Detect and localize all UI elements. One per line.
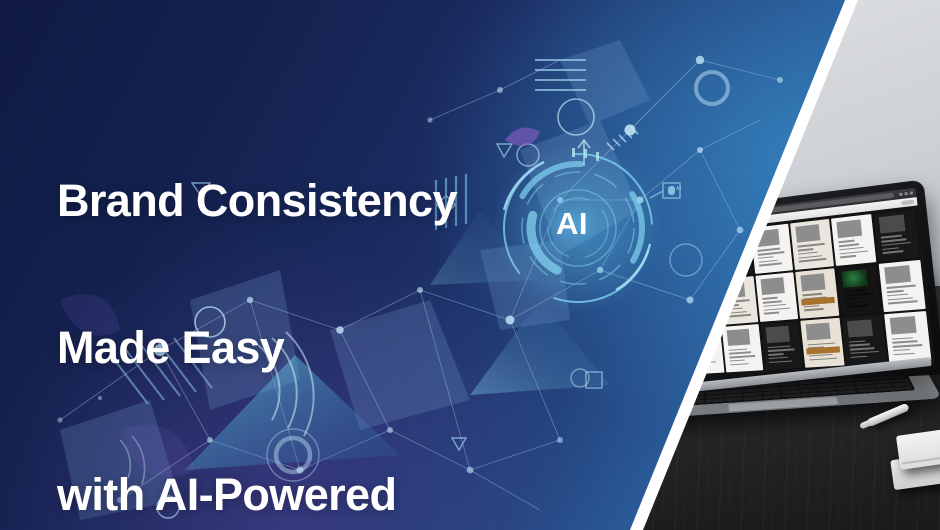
thumbnail-image <box>795 224 820 242</box>
thumbnail-text-line <box>849 340 865 343</box>
template-thumbnail[interactable] <box>885 311 932 362</box>
page-title: Brand Consistency Made Easy with AI-Powe… <box>57 78 505 530</box>
keyboard-key <box>705 399 723 403</box>
template-thumbnail[interactable] <box>879 260 926 312</box>
thumbnail-text-line <box>758 256 773 259</box>
thumbnail-image <box>800 273 825 291</box>
thumbnail-image <box>879 214 905 233</box>
node-micro-label: AI <box>676 186 682 192</box>
toolbar-action <box>901 200 914 206</box>
keyboard-key <box>820 391 838 395</box>
ai-badge-label: AI <box>556 206 588 242</box>
thumbnail-text-line <box>809 357 836 360</box>
thumbnail-text-line <box>882 242 911 247</box>
notepad-object <box>896 428 940 469</box>
thumbnail-text-line <box>768 353 783 355</box>
template-thumbnail[interactable] <box>722 324 763 372</box>
thumbnail-text-line <box>840 250 868 254</box>
thumbnail-band <box>807 347 840 355</box>
thumbnail-text-line <box>883 250 904 254</box>
thumbnail-image <box>806 323 831 341</box>
thumbnail-text-line <box>769 360 792 363</box>
template-thumbnail[interactable] <box>837 264 882 315</box>
thumbnail-text-line <box>759 259 778 262</box>
thumbnail-text-line <box>845 304 869 307</box>
keyboard-key <box>801 392 819 396</box>
thumbnail-text-line <box>764 312 779 315</box>
thumbnail-text-line <box>758 251 784 255</box>
thumbnail-text-line <box>850 344 870 347</box>
thumbnail-text-line <box>893 344 922 347</box>
headline-line-3: with AI-Powered <box>57 470 505 519</box>
thumbnail-image <box>765 326 789 343</box>
thumbnail-text-line <box>888 301 917 305</box>
thumbnail-text-line <box>845 298 861 301</box>
headline-line-2: Made Easy <box>57 323 505 372</box>
thumbnail-text-line <box>759 263 782 267</box>
thumbnail-text-line <box>882 247 899 250</box>
thumbnail-text-line <box>768 349 795 352</box>
keyboard-key <box>763 395 781 399</box>
thumbnail-text-line <box>840 255 856 258</box>
thumbnail-band <box>801 297 834 306</box>
thumbnail-text-line <box>808 342 835 345</box>
thumbnail-text-line <box>845 301 865 304</box>
thumbnail-text-line <box>769 357 788 360</box>
thumbnail-text-line <box>798 248 814 251</box>
thumbnail-text-line <box>892 340 917 343</box>
headline-line-1: Brand Consistency <box>57 176 505 225</box>
thumbnail-text-line <box>763 301 782 304</box>
thumbnail-text-line <box>730 363 748 366</box>
thumbnail-text-line <box>763 304 786 307</box>
keyboard-key <box>782 393 800 397</box>
thumbnail-image <box>726 329 749 346</box>
thumbnail-text-line <box>850 347 874 350</box>
thumbnail-text-line <box>887 290 904 293</box>
template-thumbnail[interactable] <box>801 318 845 368</box>
template-thumbnail[interactable] <box>831 214 876 266</box>
thumbnail-text-line <box>892 337 913 340</box>
thumbnail-text-line <box>762 297 777 300</box>
template-thumbnail[interactable] <box>874 209 920 262</box>
browser-minimize-icon <box>904 192 907 195</box>
thumbnail-text-line <box>797 243 824 247</box>
thumbnail-image <box>890 316 917 334</box>
thumbnail-text-line <box>844 293 872 297</box>
thumbnail-image <box>842 269 868 287</box>
thumbnail-text-line <box>802 293 821 296</box>
notepad-edge <box>902 455 940 464</box>
template-thumbnail[interactable] <box>790 219 834 270</box>
thumbnail-text-line <box>887 285 916 289</box>
template-thumbnail[interactable] <box>756 272 798 321</box>
template-thumbnail[interactable] <box>795 268 839 318</box>
thumbnail-text-line <box>730 359 745 361</box>
template-thumbnail[interactable] <box>842 315 887 366</box>
keyboard-key <box>876 387 894 391</box>
banner-image: Brand Consistency Made Easy with AI-Powe… <box>0 0 940 530</box>
thumbnail-image <box>847 319 873 337</box>
thumbnail-text-line <box>729 355 755 358</box>
thumbnail-text-line <box>887 293 908 296</box>
thumbnail-text-line <box>767 345 790 348</box>
keyboard-key <box>744 396 762 400</box>
thumbnail-text-line <box>764 307 790 311</box>
thumbnail-image <box>760 277 784 295</box>
thumbnail-text-line <box>893 349 910 352</box>
browser-close-icon <box>910 191 913 194</box>
thumbnail-text-line <box>729 352 751 355</box>
browser-menu-icon <box>899 193 902 196</box>
thumbnail-text-line <box>894 352 915 355</box>
keyboard-key <box>839 390 857 394</box>
thumbnail-text-line <box>839 240 855 243</box>
thumbnail-text-line <box>851 355 867 358</box>
template-thumbnail[interactable] <box>761 321 803 370</box>
thumbnail-text-line <box>804 308 823 311</box>
thumbnail-text-line <box>799 258 826 262</box>
thumbnail-text-line <box>888 297 913 301</box>
keyboard-key <box>857 388 875 392</box>
keyboard-key <box>725 397 743 401</box>
thumbnail-text-line <box>850 351 878 354</box>
keyboard-key <box>894 386 912 390</box>
thumbnail-image <box>884 265 910 284</box>
thumbnail-image <box>836 219 862 238</box>
thumbnail-text-line <box>728 348 746 351</box>
